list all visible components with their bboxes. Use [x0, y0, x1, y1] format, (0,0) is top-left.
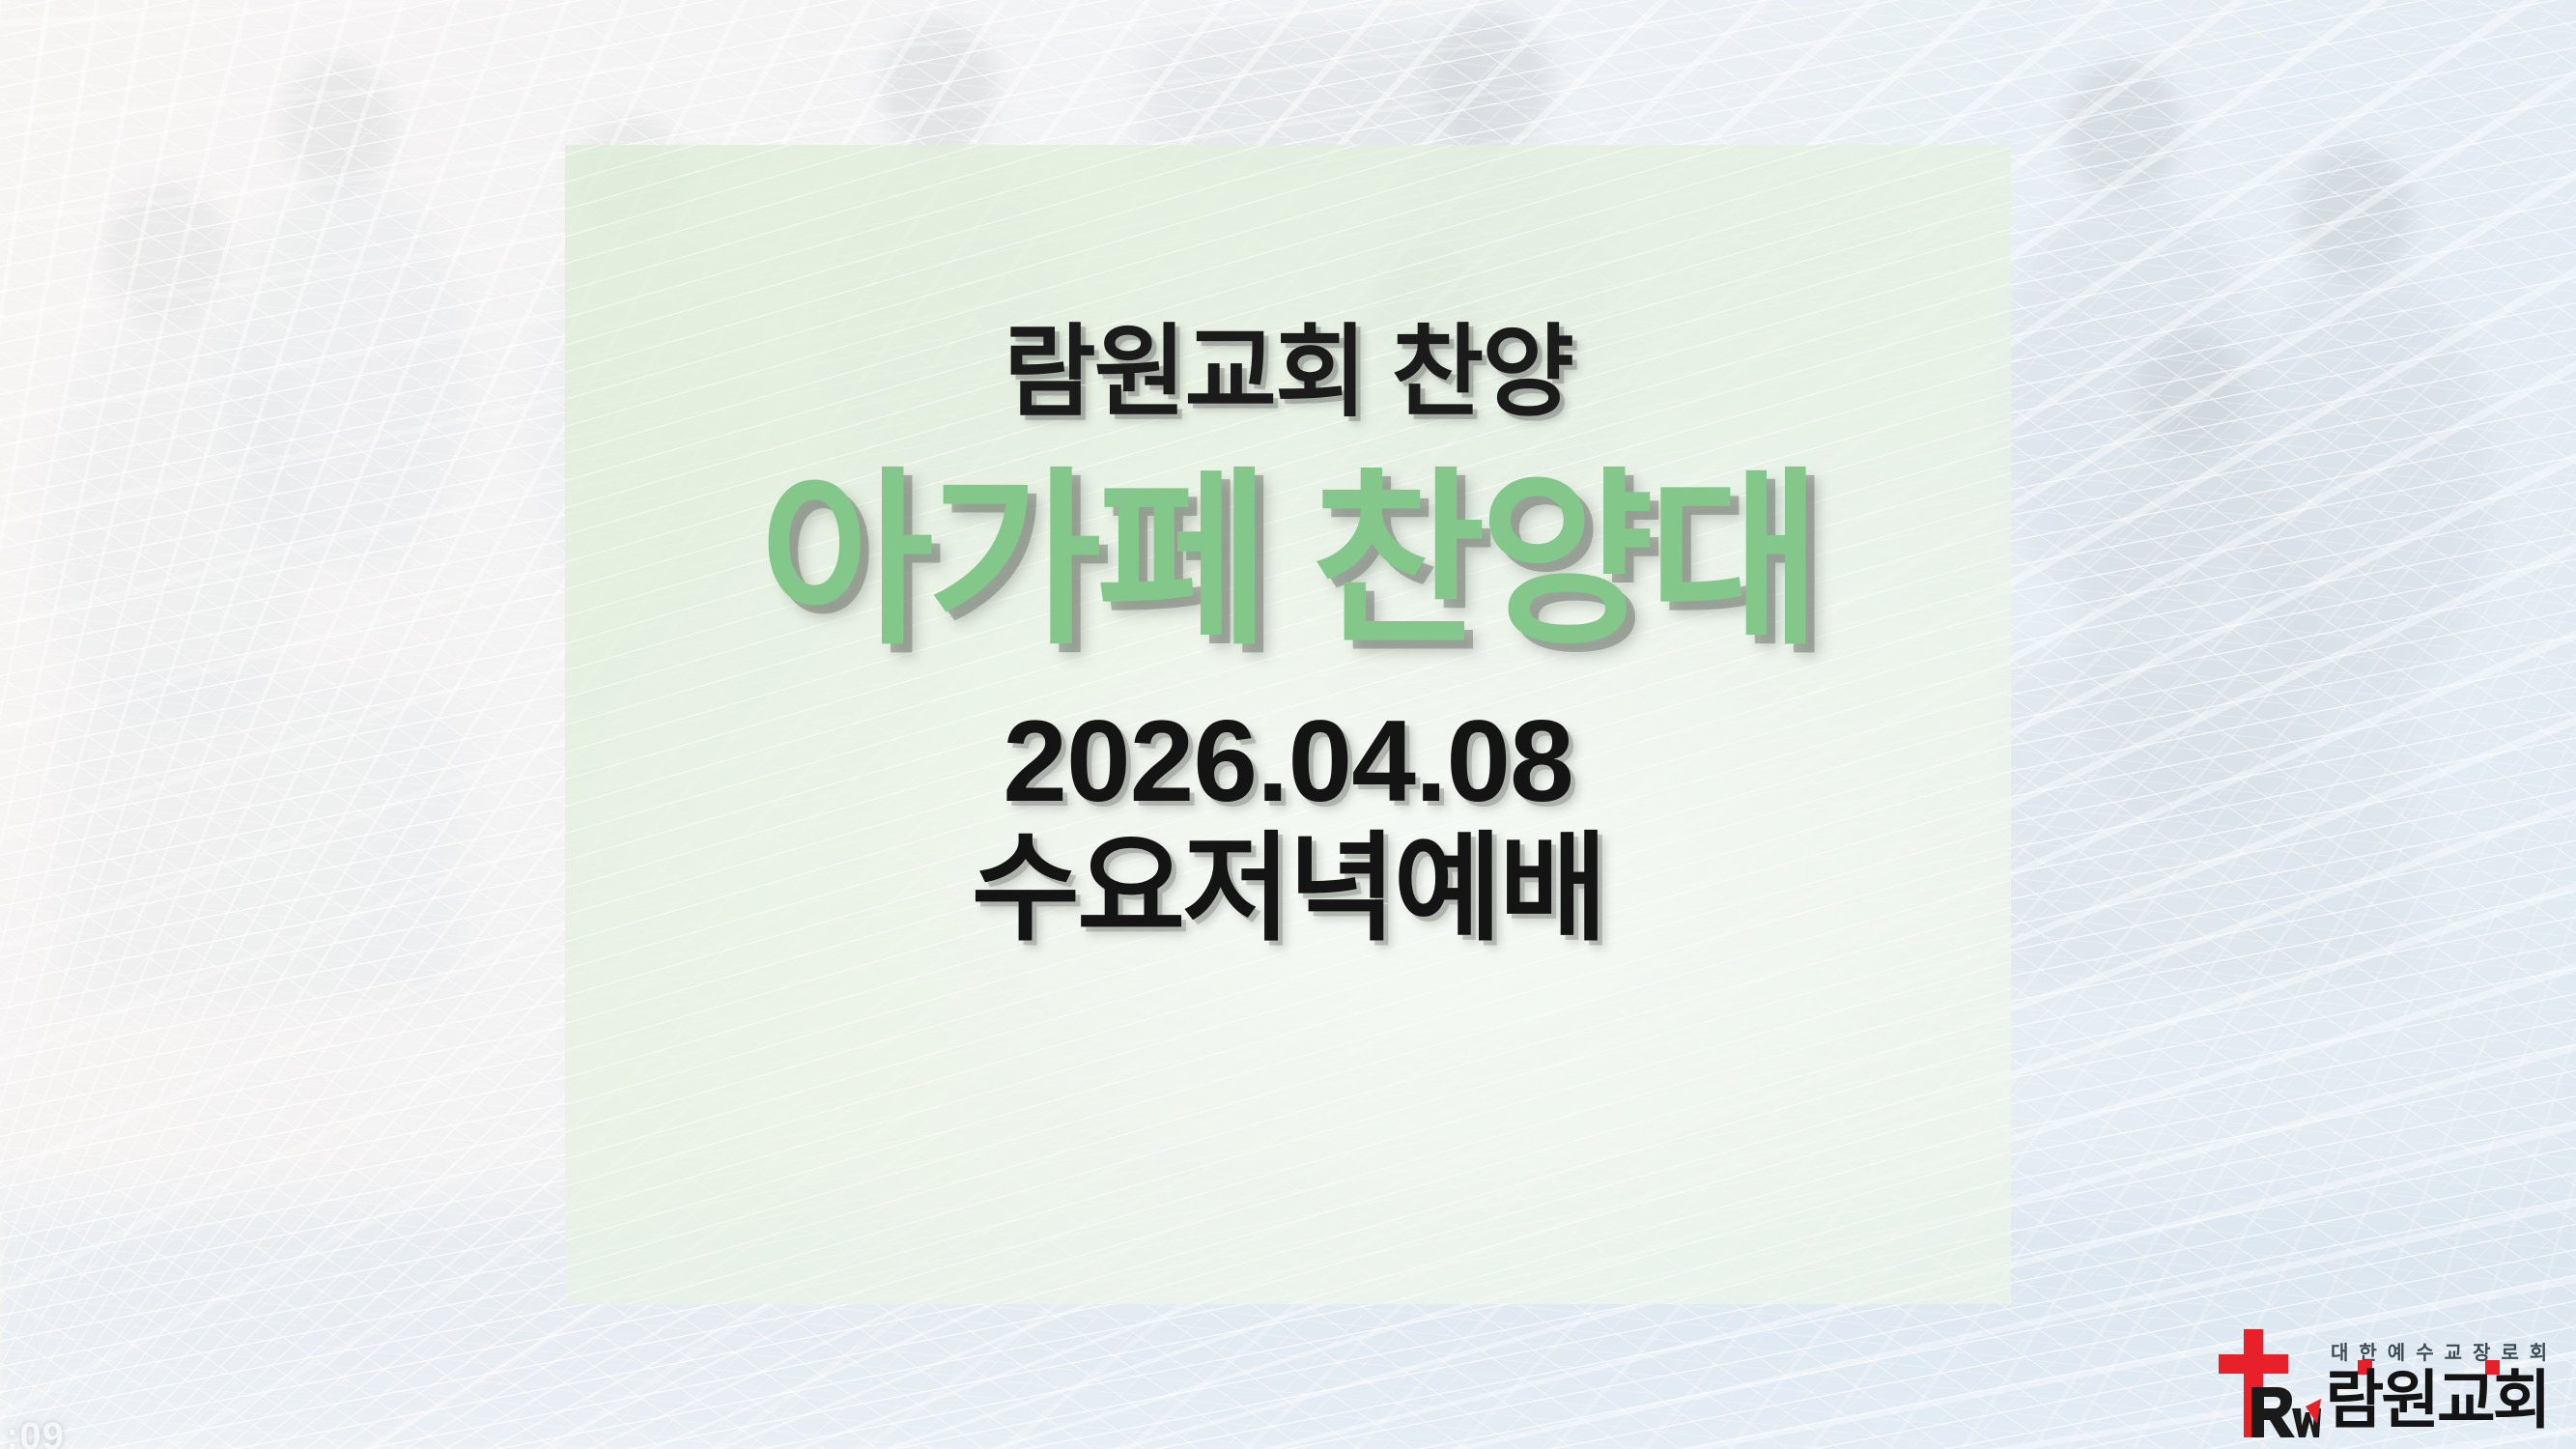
slide-subtitle: 람원교회 찬양: [1004, 321, 1572, 426]
background-figure-head: [104, 182, 230, 327]
background-figure-head: [2135, 328, 2245, 458]
logo-church-name: 람원교회: [2325, 1368, 2549, 1432]
background-figure-head: [2063, 58, 2183, 199]
background-robe: [58, 676, 464, 1005]
slide-text-block: 람원교회 찬양 아가페 찬양대 2026.04.08 수요저녁예배: [565, 145, 2011, 1304]
cross-monogram-icon: [2209, 1327, 2321, 1443]
church-logo: 대한예수교장로회 람원교회: [2209, 1321, 2549, 1443]
background-figure-head: [881, 19, 997, 156]
slide-main-title: 아가페 찬양대: [759, 467, 1816, 656]
background-robe: [1990, 638, 2415, 985]
timestamp-overlay: :09: [6, 1415, 65, 1449]
slide-service-name: 수요저녁예배: [972, 827, 1604, 951]
background-figure-head: [2297, 145, 2413, 282]
logo-wordmark: 대한예수교장로회 람원교회: [2325, 1329, 2549, 1443]
background-figure-body: [224, 180, 471, 566]
slide-canvas: 람원교회 찬양 아가페 찬양대 2026.04.08 수요저녁예배 :09 대한…: [0, 0, 2576, 1449]
slide-date: 2026.04.08: [1003, 702, 1573, 820]
background-figure-head: [282, 58, 396, 193]
